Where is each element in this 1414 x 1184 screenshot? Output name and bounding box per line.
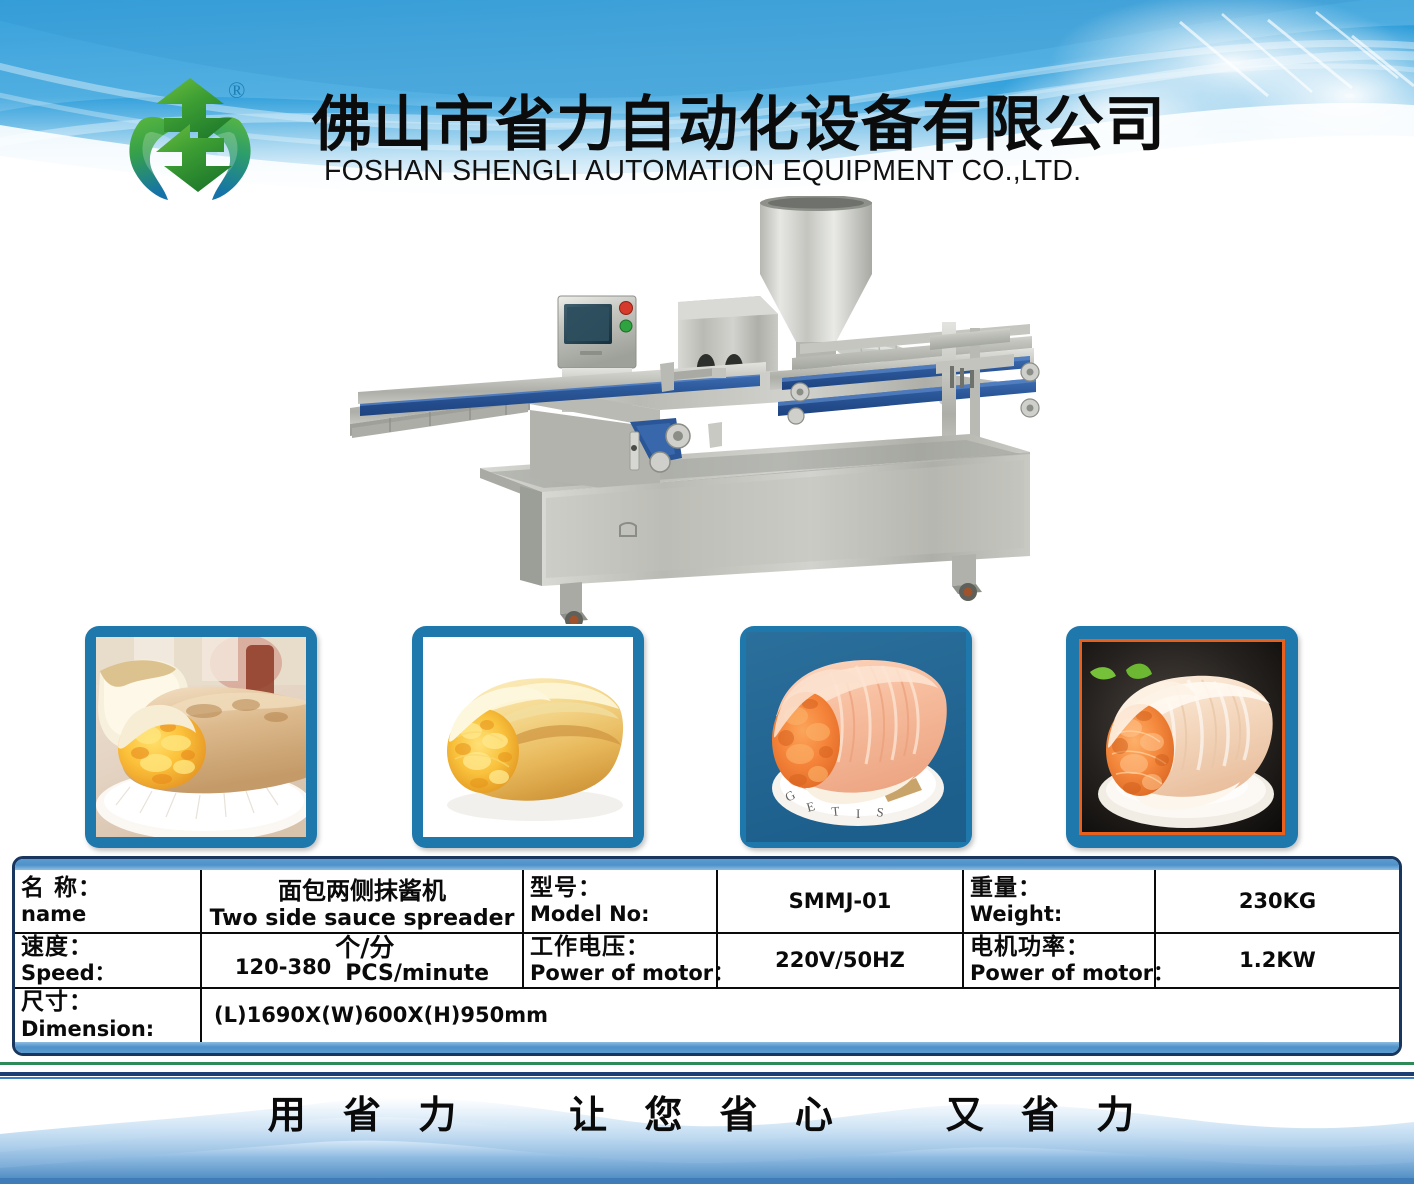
spec-label-motor-power: 电机功率： Power of motor： — [963, 933, 1155, 988]
footer-slogan-text: 用 省 力 让 您 省 心 又 省 力 — [268, 1084, 1146, 1139]
header-banner: ® 佛山市省力自动化设备有限公司 FOSHAN SHENGLI AUTOMATI… — [0, 0, 1414, 212]
spec-label-dimension-cn: 尺寸： — [21, 989, 194, 1016]
spec-label-name-cn: 名 称： — [21, 875, 194, 902]
spec-value-weight: 230KG — [1155, 870, 1399, 933]
spec-label-name-en: name — [21, 902, 194, 927]
product-photo-1-image — [96, 637, 306, 837]
spec-label-weight-en: Weight: — [970, 902, 1148, 927]
product-photo-strip: G E T I S — [0, 626, 1414, 848]
spec-value-model: SMMJ-01 — [717, 870, 963, 933]
machine-illustration — [330, 196, 1090, 624]
spec-label-motor-power-cn: 电机功率： — [970, 934, 1148, 961]
svg-text:T: T — [831, 803, 841, 819]
specification-table: 名 称： name 面包两侧抹酱机 Two side sauce spreade… — [15, 870, 1399, 1042]
spec-label-speed-en: Speed： — [21, 961, 194, 986]
spec-label-voltage-cn: 工作电压： — [530, 934, 710, 961]
svg-text:I: I — [856, 806, 860, 821]
spec-label-voltage: 工作电压： Power of motor： — [523, 933, 717, 988]
shengli-hands-s-logo-icon — [120, 72, 270, 202]
footer-slogan: 用 省 力 让 您 省 心 又 省 力 — [0, 1082, 1414, 1140]
product-spec-sheet: ® 佛山市省力自动化设备有限公司 FOSHAN SHENGLI AUTOMATI… — [0, 0, 1414, 1184]
product-photo-2-image — [423, 637, 633, 837]
spec-label-dimension: 尺寸： Dimension: — [15, 988, 201, 1042]
product-photo-2[interactable] — [412, 626, 644, 848]
product-photo-1[interactable] — [85, 626, 317, 848]
spec-label-model-cn: 型号： — [530, 875, 710, 902]
spec-value-dimension: (L)1690X(W)600X(H)950mm — [201, 988, 1399, 1042]
spec-label-dimension-en: Dimension: — [21, 1017, 194, 1042]
registered-trademark-icon: ® — [228, 78, 245, 104]
spec-label-weight: 重量： Weight: — [963, 870, 1155, 933]
machine-hero-photo — [330, 196, 1090, 624]
spec-value-motor-power: 1.2KW — [1155, 933, 1399, 988]
frame-band-top — [15, 859, 1399, 870]
product-photo-3-image: G E T I S — [746, 632, 966, 842]
product-photo-4-image — [1079, 639, 1285, 835]
spec-value-speed-unit-en: PCS/minute — [335, 962, 489, 985]
company-name-chinese: 佛山市省力自动化设备有限公司 — [312, 76, 1166, 163]
spec-value-name-cn: 面包两侧抹酱机 — [208, 871, 516, 906]
spec-value-speed-number: 120-380 — [235, 941, 331, 979]
spec-value-name: 面包两侧抹酱机 Two side sauce spreader — [201, 870, 523, 933]
spec-value-speed: 120-380 个/分 PCS/minute — [201, 933, 523, 988]
table-row: 速度： Speed： 120-380 个/分 PCS/minute — [15, 933, 1399, 988]
frame-band-bottom — [15, 1042, 1399, 1053]
product-photo-3[interactable]: G E T I S — [740, 626, 972, 848]
spec-label-voltage-en: Power of motor： — [530, 961, 710, 986]
product-photo-4[interactable] — [1066, 626, 1298, 848]
spec-label-speed: 速度： Speed： — [15, 933, 201, 988]
spec-value-speed-unit-cn: 个/分 — [335, 935, 489, 961]
spec-label-weight-cn: 重量： — [970, 875, 1148, 902]
divider-green — [0, 1062, 1414, 1065]
spec-label-speed-cn: 速度： — [21, 934, 194, 961]
company-name-english: FOSHAN SHENGLI AUTOMATION EQUIPMENT CO.,… — [324, 155, 1081, 188]
company-logo — [120, 72, 270, 202]
spec-label-motor-power-en: Power of motor： — [970, 961, 1148, 986]
spec-value-voltage: 220V/50HZ — [717, 933, 963, 988]
table-row: 尺寸： Dimension: (L)1690X(W)600X(H)950mm — [15, 988, 1399, 1042]
spec-label-name: 名 称： name — [15, 870, 201, 933]
spec-label-model: 型号： Model No: — [523, 870, 717, 933]
table-row: 名 称： name 面包两侧抹酱机 Two side sauce spreade… — [15, 870, 1399, 933]
specification-table-frame: 名 称： name 面包两侧抹酱机 Two side sauce spreade… — [12, 856, 1402, 1056]
spec-label-model-en: Model No: — [530, 902, 710, 927]
spec-value-name-en: Two side sauce spreader — [208, 906, 516, 931]
